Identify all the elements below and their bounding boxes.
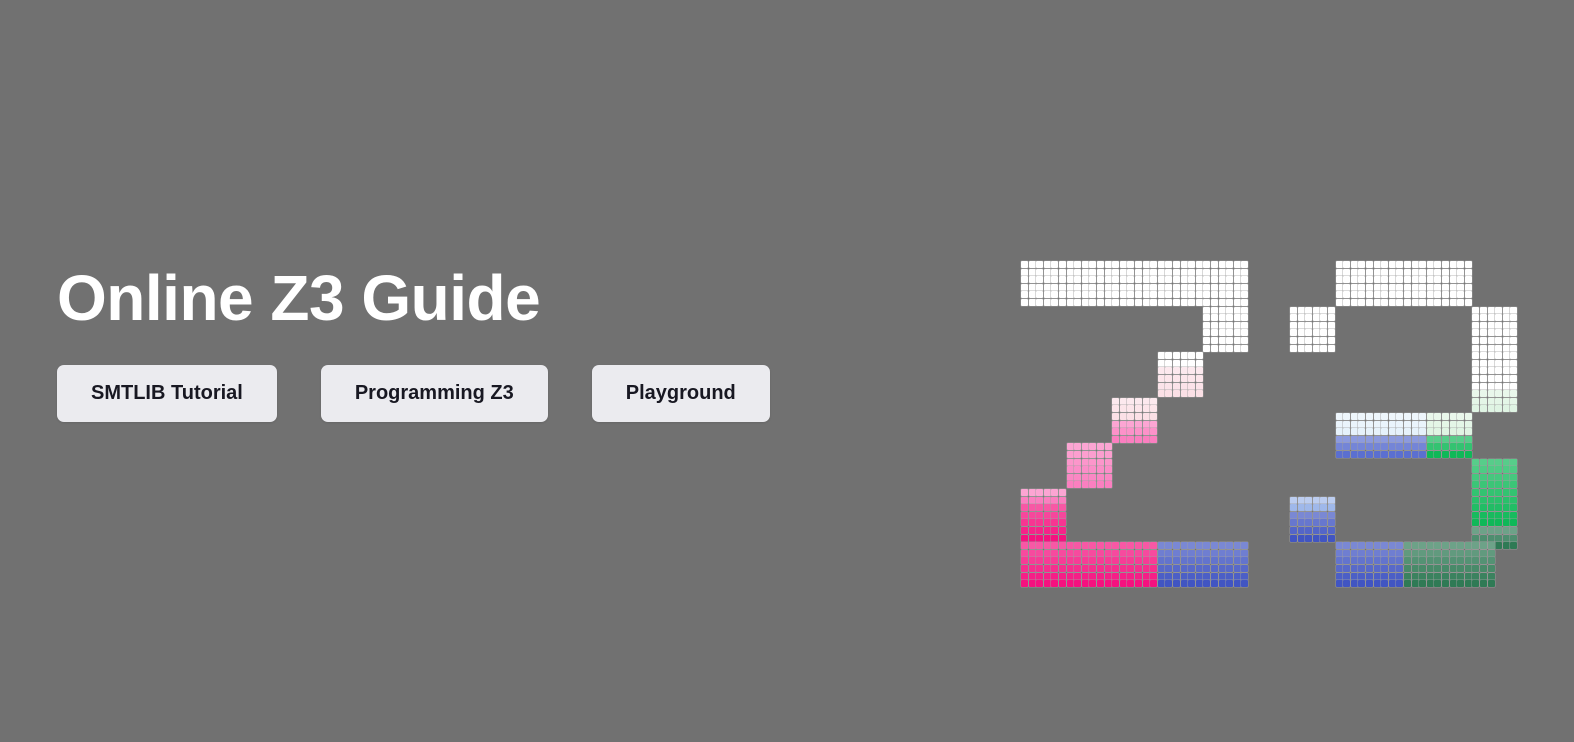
logo-pixel-cell bbox=[1472, 383, 1479, 390]
logo-pixel-cell bbox=[1097, 276, 1104, 283]
hero-section: Online Z3 Guide SMTLIB TutorialProgrammi… bbox=[0, 0, 1574, 742]
logo-pixel-cell bbox=[1234, 337, 1241, 344]
logo-pixel-cell bbox=[1203, 329, 1210, 336]
logo-pixel-cell bbox=[1120, 276, 1127, 283]
logo-pixel-cell bbox=[1381, 580, 1388, 587]
logo-pixel-cell bbox=[1196, 542, 1203, 549]
logo-pixel-cell bbox=[1503, 504, 1510, 511]
logo-pixel-cell bbox=[1396, 299, 1403, 306]
logo-pixel-cell bbox=[1343, 269, 1350, 276]
logo-pixel-cell bbox=[1358, 291, 1365, 298]
logo-pixel-cell bbox=[1450, 565, 1457, 572]
logo-pixel-cell bbox=[1488, 573, 1495, 580]
logo-pixel-cell bbox=[1457, 269, 1464, 276]
logo-pixel-cell bbox=[1143, 542, 1150, 549]
logo-pixel-cell bbox=[1074, 261, 1081, 268]
logo-pixel-cell bbox=[1029, 269, 1036, 276]
logo-pixel-cell bbox=[1412, 276, 1419, 283]
logo-pixel-cell bbox=[1434, 557, 1441, 564]
logo-pixel-cell bbox=[1097, 474, 1104, 481]
logo-pixel-cell bbox=[1480, 557, 1487, 564]
logo-pixel-cell bbox=[1465, 413, 1472, 420]
logo-pixel-cell bbox=[1234, 580, 1241, 587]
logo-pixel-cell bbox=[1442, 565, 1449, 572]
logo-pixel-cell bbox=[1150, 573, 1157, 580]
logo-pixel-cell bbox=[1211, 291, 1218, 298]
logo-pixel-cell bbox=[1241, 345, 1248, 352]
logo-pixel-cell bbox=[1211, 565, 1218, 572]
logo-pixel-cell bbox=[1226, 276, 1233, 283]
logo-pixel-cell bbox=[1158, 291, 1165, 298]
logo-pixel-cell bbox=[1404, 413, 1411, 420]
logo-pixel-cell bbox=[1480, 474, 1487, 481]
logo-pixel-cell bbox=[1188, 375, 1195, 382]
logo-pixel-cell bbox=[1472, 352, 1479, 359]
logo-pixel-cell bbox=[1336, 542, 1343, 549]
logo-pixel-cell bbox=[1488, 459, 1495, 466]
logo-pixel-cell bbox=[1181, 542, 1188, 549]
logo-pixel-cell bbox=[1211, 557, 1218, 564]
logo-pixel-cell bbox=[1158, 352, 1165, 359]
logo-pixel-cell bbox=[1396, 269, 1403, 276]
logo-pixel-cell bbox=[1389, 261, 1396, 268]
logo-pixel-cell bbox=[1480, 345, 1487, 352]
logo-pixel-cell bbox=[1389, 269, 1396, 276]
logo-pixel-cell bbox=[1158, 299, 1165, 306]
logo-pixel-cell bbox=[1165, 269, 1172, 276]
logo-pixel-cell bbox=[1196, 383, 1203, 390]
logo-pixel-cell bbox=[1374, 573, 1381, 580]
logo-pixel-cell bbox=[1181, 557, 1188, 564]
logo-pixel-cell bbox=[1226, 542, 1233, 549]
logo-pixel-cell bbox=[1328, 314, 1335, 321]
logo-pixel-cell bbox=[1241, 276, 1248, 283]
logo-pixel-cell bbox=[1495, 329, 1502, 336]
logo-pixel-cell bbox=[1336, 261, 1343, 268]
logo-pixel-cell bbox=[1434, 550, 1441, 557]
logo-pixel-cell bbox=[1427, 443, 1434, 450]
logo-pixel-cell bbox=[1366, 261, 1373, 268]
logo-pixel-cell bbox=[1472, 322, 1479, 329]
logo-pixel-cell bbox=[1480, 535, 1487, 542]
logo-pixel-cell bbox=[1105, 542, 1112, 549]
logo-pixel-cell bbox=[1374, 276, 1381, 283]
logo-pixel-cell bbox=[1488, 580, 1495, 587]
logo-pixel-cell bbox=[1021, 535, 1028, 542]
logo-pixel-cell bbox=[1366, 421, 1373, 428]
logo-pixel-cell bbox=[1097, 459, 1104, 466]
logo-pixel-cell bbox=[1044, 269, 1051, 276]
logo-pixel-cell bbox=[1082, 269, 1089, 276]
logo-pixel-cell bbox=[1305, 527, 1312, 534]
logo-pixel-cell bbox=[1211, 337, 1218, 344]
logo-pixel-cell bbox=[1203, 565, 1210, 572]
logo-pixel-cell bbox=[1495, 405, 1502, 412]
logo-pixel-cell bbox=[1127, 421, 1134, 428]
logo-pixel-cell bbox=[1082, 451, 1089, 458]
logo-pixel-cell bbox=[1419, 276, 1426, 283]
logo-pixel-cell bbox=[1442, 299, 1449, 306]
logo-pixel-cell bbox=[1067, 573, 1074, 580]
logo-pixel-cell bbox=[1029, 527, 1036, 534]
logo-pixel-cell bbox=[1480, 542, 1487, 549]
logo-pixel-cell bbox=[1127, 580, 1134, 587]
logo-pixel-cell bbox=[1089, 580, 1096, 587]
nav-button-group: SMTLIB TutorialProgramming Z3Playground bbox=[57, 365, 770, 422]
logo-pixel-cell bbox=[1173, 360, 1180, 367]
logo-pixel-cell bbox=[1328, 519, 1335, 526]
logo-pixel-cell bbox=[1472, 307, 1479, 314]
logo-pixel-cell bbox=[1173, 299, 1180, 306]
logo-pixel-cell bbox=[1067, 550, 1074, 557]
logo-pixel-cell bbox=[1097, 580, 1104, 587]
logo-pixel-cell bbox=[1442, 284, 1449, 291]
logo-pixel-cell bbox=[1465, 276, 1472, 283]
logo-pixel-cell bbox=[1181, 375, 1188, 382]
logo-pixel-cell bbox=[1412, 550, 1419, 557]
logo-pixel-cell bbox=[1442, 413, 1449, 420]
logo-pixel-cell bbox=[1127, 565, 1134, 572]
logo-pixel-cell bbox=[1472, 580, 1479, 587]
logo-pixel-cell bbox=[1472, 497, 1479, 504]
logo-pixel-cell bbox=[1165, 352, 1172, 359]
logo-pixel-cell bbox=[1374, 580, 1381, 587]
logo-pixel-cell bbox=[1358, 261, 1365, 268]
logo-pixel-cell bbox=[1305, 314, 1312, 321]
logo-pixel-cell bbox=[1089, 299, 1096, 306]
logo-pixel-cell bbox=[1074, 542, 1081, 549]
logo-pixel-cell bbox=[1097, 299, 1104, 306]
logo-pixel-cell bbox=[1298, 527, 1305, 534]
logo-pixel-cell bbox=[1067, 443, 1074, 450]
logo-pixel-cell bbox=[1226, 284, 1233, 291]
logo-pixel-cell bbox=[1374, 443, 1381, 450]
logo-pixel-cell bbox=[1434, 299, 1441, 306]
logo-pixel-cell bbox=[1480, 352, 1487, 359]
logo-pixel-cell bbox=[1036, 573, 1043, 580]
logo-pixel-cell bbox=[1135, 580, 1142, 587]
logo-pixel-cell bbox=[1165, 542, 1172, 549]
logo-pixel-cell bbox=[1503, 459, 1510, 466]
logo-pixel-cell bbox=[1510, 405, 1517, 412]
logo-pixel-cell bbox=[1320, 535, 1327, 542]
logo-pixel-cell bbox=[1234, 261, 1241, 268]
logo-pixel-cell bbox=[1434, 573, 1441, 580]
logo-pixel-cell bbox=[1219, 550, 1226, 557]
logo-pixel-cell bbox=[1044, 261, 1051, 268]
logo-pixel-cell bbox=[1465, 291, 1472, 298]
logo-pixel-cell bbox=[1480, 519, 1487, 526]
logo-pixel-cell bbox=[1036, 497, 1043, 504]
logo-pixel-cell bbox=[1203, 557, 1210, 564]
logo-pixel-cell bbox=[1328, 512, 1335, 519]
logo-pixel-cell bbox=[1051, 557, 1058, 564]
playground-button[interactable]: Playground bbox=[592, 365, 770, 422]
logo-pixel-cell bbox=[1165, 573, 1172, 580]
logo-pixel-cell bbox=[1044, 542, 1051, 549]
logo-pixel-cell bbox=[1036, 299, 1043, 306]
logo-pixel-cell bbox=[1358, 451, 1365, 458]
logo-pixel-cell bbox=[1290, 329, 1297, 336]
logo-pixel-cell bbox=[1328, 307, 1335, 314]
logo-pixel-cell bbox=[1226, 337, 1233, 344]
logo-pixel-cell bbox=[1226, 329, 1233, 336]
logo-pixel-cell bbox=[1105, 276, 1112, 283]
logo-pixel-cell bbox=[1082, 276, 1089, 283]
logo-pixel-cell bbox=[1336, 299, 1343, 306]
logo-pixel-cell bbox=[1059, 519, 1066, 526]
logo-pixel-cell bbox=[1351, 421, 1358, 428]
logo-pixel-cell bbox=[1234, 307, 1241, 314]
logo-pixel-cell bbox=[1419, 557, 1426, 564]
logo-pixel-cell bbox=[1472, 512, 1479, 519]
logo-pixel-cell bbox=[1196, 276, 1203, 283]
logo-pixel-cell bbox=[1173, 269, 1180, 276]
logo-pixel-cell bbox=[1089, 261, 1096, 268]
logo-pixel-cell bbox=[1234, 565, 1241, 572]
logo-pixel-cell bbox=[1290, 337, 1297, 344]
logo-pixel-cell bbox=[1366, 557, 1373, 564]
logo-pixel-cell bbox=[1298, 519, 1305, 526]
logo-pixel-cell bbox=[1181, 550, 1188, 557]
logo-pixel-cell bbox=[1021, 299, 1028, 306]
logo-pixel-cell bbox=[1374, 261, 1381, 268]
logo-pixel-cell bbox=[1472, 535, 1479, 542]
logo-pixel-cell bbox=[1472, 466, 1479, 473]
logo-pixel-cell bbox=[1158, 573, 1165, 580]
logo-pixel-cell bbox=[1097, 573, 1104, 580]
logo-pixel-cell bbox=[1044, 580, 1051, 587]
logo-pixel-cell bbox=[1127, 557, 1134, 564]
logo-pixel-cell bbox=[1343, 428, 1350, 435]
logo-pixel-cell bbox=[1173, 375, 1180, 382]
logo-pixel-cell bbox=[1074, 573, 1081, 580]
logo-pixel-cell bbox=[1404, 557, 1411, 564]
logo-pixel-cell bbox=[1211, 314, 1218, 321]
logo-pixel-cell bbox=[1404, 284, 1411, 291]
logo-pixel-cell bbox=[1120, 557, 1127, 564]
logo-pixel-cell bbox=[1381, 443, 1388, 450]
logo-pixel-cell bbox=[1029, 299, 1036, 306]
logo-pixel-cell bbox=[1343, 284, 1350, 291]
logo-pixel-cell bbox=[1510, 504, 1517, 511]
logo-pixel-cell bbox=[1196, 580, 1203, 587]
logo-pixel-cell bbox=[1082, 580, 1089, 587]
logo-pixel-cell bbox=[1472, 329, 1479, 336]
logo-pixel-cell bbox=[1135, 557, 1142, 564]
logo-pixel-cell bbox=[1074, 269, 1081, 276]
logo-pixel-cell bbox=[1336, 565, 1343, 572]
logo-pixel-cell bbox=[1510, 459, 1517, 466]
logo-pixel-cell bbox=[1059, 550, 1066, 557]
logo-pixel-cell bbox=[1336, 421, 1343, 428]
logo-pixel-cell bbox=[1051, 504, 1058, 511]
logo-pixel-cell bbox=[1366, 550, 1373, 557]
logo-pixel-cell bbox=[1480, 390, 1487, 397]
logo-pixel-cell bbox=[1241, 550, 1248, 557]
logo-pixel-cell bbox=[1165, 284, 1172, 291]
logo-pixel-cell bbox=[1503, 352, 1510, 359]
logo-pixel-cell bbox=[1112, 542, 1119, 549]
logo-pixel-cell bbox=[1488, 405, 1495, 412]
logo-pixel-cell bbox=[1472, 459, 1479, 466]
logo-pixel-cell bbox=[1366, 580, 1373, 587]
logo-pixel-cell bbox=[1510, 542, 1517, 549]
logo-pixel-cell bbox=[1488, 466, 1495, 473]
logo-pixel-cell bbox=[1143, 550, 1150, 557]
logo-pixel-cell bbox=[1226, 345, 1233, 352]
programming-z3-button[interactable]: Programming Z3 bbox=[321, 365, 548, 422]
logo-pixel-cell bbox=[1290, 307, 1297, 314]
logo-pixel-cell bbox=[1097, 443, 1104, 450]
logo-pixel-cell bbox=[1450, 276, 1457, 283]
logo-pixel-cell bbox=[1427, 299, 1434, 306]
logo-pixel-cell bbox=[1044, 550, 1051, 557]
logo-pixel-cell bbox=[1472, 337, 1479, 344]
logo-pixel-cell bbox=[1196, 269, 1203, 276]
logo-pixel-cell bbox=[1036, 580, 1043, 587]
logo-pixel-cell bbox=[1234, 269, 1241, 276]
logo-pixel-cell bbox=[1450, 580, 1457, 587]
logo-pixel-cell bbox=[1059, 557, 1066, 564]
logo-pixel-cell bbox=[1495, 345, 1502, 352]
logo-pixel-cell bbox=[1120, 565, 1127, 572]
logo-pixel-cell bbox=[1351, 573, 1358, 580]
logo-pixel-cell bbox=[1366, 413, 1373, 420]
logo-pixel-cell bbox=[1120, 405, 1127, 412]
logo-pixel-cell bbox=[1495, 512, 1502, 519]
logo-pixel-cell bbox=[1480, 489, 1487, 496]
logo-pixel-cell bbox=[1480, 512, 1487, 519]
logo-pixel-cell bbox=[1135, 299, 1142, 306]
logo-pixel-cell bbox=[1097, 291, 1104, 298]
logo-pixel-cell bbox=[1196, 557, 1203, 564]
logo-pixel-cell bbox=[1150, 580, 1157, 587]
logo-pixel-cell bbox=[1241, 269, 1248, 276]
logo-pixel-cell bbox=[1298, 337, 1305, 344]
logo-pixel-cell bbox=[1089, 269, 1096, 276]
logo-pixel-cell bbox=[1457, 565, 1464, 572]
logo-pixel-cell bbox=[1226, 580, 1233, 587]
logo-pixel-cell bbox=[1290, 527, 1297, 534]
logo-pixel-cell bbox=[1510, 383, 1517, 390]
logo-pixel-cell bbox=[1465, 284, 1472, 291]
logo-pixel-cell bbox=[1510, 512, 1517, 519]
logo-pixel-cell bbox=[1181, 390, 1188, 397]
logo-pixel-cell bbox=[1029, 261, 1036, 268]
logo-pixel-cell bbox=[1067, 276, 1074, 283]
logo-pixel-cell bbox=[1173, 565, 1180, 572]
logo-pixel-cell bbox=[1442, 580, 1449, 587]
logo-pixel-cell bbox=[1389, 284, 1396, 291]
logo-pixel-cell bbox=[1336, 269, 1343, 276]
logo-pixel-cell bbox=[1495, 466, 1502, 473]
logo-pixel-cell bbox=[1051, 535, 1058, 542]
logo-pixel-cell bbox=[1495, 390, 1502, 397]
logo-pixel-cell bbox=[1150, 405, 1157, 412]
logo-pixel-cell bbox=[1036, 261, 1043, 268]
logo-pixel-cell bbox=[1472, 519, 1479, 526]
logo-pixel-cell bbox=[1510, 535, 1517, 542]
logo-pixel-cell bbox=[1120, 413, 1127, 420]
logo-pixel-cell bbox=[1173, 390, 1180, 397]
logo-pixel-cell bbox=[1226, 307, 1233, 314]
logo-pixel-cell bbox=[1203, 307, 1210, 314]
logo-pixel-cell bbox=[1036, 489, 1043, 496]
logo-pixel-cell bbox=[1112, 398, 1119, 405]
logo-pixel-cell bbox=[1396, 284, 1403, 291]
logo-pixel-cell bbox=[1211, 345, 1218, 352]
logo-pixel-cell bbox=[1457, 428, 1464, 435]
logo-pixel-cell bbox=[1241, 314, 1248, 321]
logo-pixel-cell bbox=[1143, 557, 1150, 564]
logo-pixel-cell bbox=[1196, 573, 1203, 580]
logo-pixel-cell bbox=[1328, 322, 1335, 329]
logo-pixel-cell bbox=[1510, 367, 1517, 374]
logo-pixel-cell bbox=[1143, 261, 1150, 268]
logo-pixel-cell bbox=[1510, 398, 1517, 405]
logo-pixel-cell bbox=[1427, 269, 1434, 276]
logo-pixel-cell bbox=[1029, 497, 1036, 504]
logo-pixel-cell bbox=[1465, 299, 1472, 306]
logo-pixel-cell bbox=[1051, 580, 1058, 587]
logo-pixel-cell bbox=[1112, 565, 1119, 572]
logo-pixel-cell bbox=[1480, 527, 1487, 534]
logo-pixel-cell bbox=[1051, 299, 1058, 306]
logo-pixel-cell bbox=[1336, 451, 1343, 458]
logo-pixel-cell bbox=[1044, 519, 1051, 526]
logo-pixel-cell bbox=[1181, 352, 1188, 359]
logo-pixel-cell bbox=[1320, 345, 1327, 352]
logo-pixel-cell bbox=[1298, 345, 1305, 352]
logo-pixel-cell bbox=[1150, 284, 1157, 291]
logo-pixel-cell bbox=[1188, 360, 1195, 367]
logo-pixel-cell bbox=[1351, 261, 1358, 268]
logo-pixel-cell bbox=[1127, 398, 1134, 405]
logo-pixel-cell bbox=[1313, 314, 1320, 321]
logo-pixel-cell bbox=[1313, 322, 1320, 329]
logo-pixel-cell bbox=[1495, 481, 1502, 488]
logo-pixel-cell bbox=[1313, 329, 1320, 336]
logo-pixel-cell bbox=[1472, 504, 1479, 511]
logo-pixel-cell bbox=[1434, 451, 1441, 458]
logo-pixel-cell bbox=[1396, 557, 1403, 564]
logo-pixel-cell bbox=[1305, 329, 1312, 336]
logo-pixel-cell bbox=[1404, 451, 1411, 458]
smtlib-tutorial-button[interactable]: SMTLIB Tutorial bbox=[57, 365, 277, 422]
logo-pixel-cell bbox=[1427, 550, 1434, 557]
logo-pixel-cell bbox=[1051, 291, 1058, 298]
logo-pixel-cell bbox=[1044, 535, 1051, 542]
logo-pixel-cell bbox=[1472, 565, 1479, 572]
logo-pixel-cell bbox=[1181, 383, 1188, 390]
logo-pixel-cell bbox=[1173, 276, 1180, 283]
logo-pixel-cell bbox=[1427, 565, 1434, 572]
logo-pixel-cell bbox=[1097, 451, 1104, 458]
logo-pixel-cell bbox=[1211, 542, 1218, 549]
logo-pixel-cell bbox=[1503, 405, 1510, 412]
logo-pixel-cell bbox=[1029, 489, 1036, 496]
logo-pixel-cell bbox=[1366, 284, 1373, 291]
logo-pixel-cell bbox=[1181, 299, 1188, 306]
logo-pixel-cell bbox=[1472, 557, 1479, 564]
logo-pixel-cell bbox=[1450, 550, 1457, 557]
logo-pixel-cell bbox=[1412, 284, 1419, 291]
logo-pixel-cell bbox=[1067, 299, 1074, 306]
logo-pixel-cell bbox=[1089, 481, 1096, 488]
logo-pixel-cell bbox=[1434, 413, 1441, 420]
logo-pixel-cell bbox=[1450, 436, 1457, 443]
